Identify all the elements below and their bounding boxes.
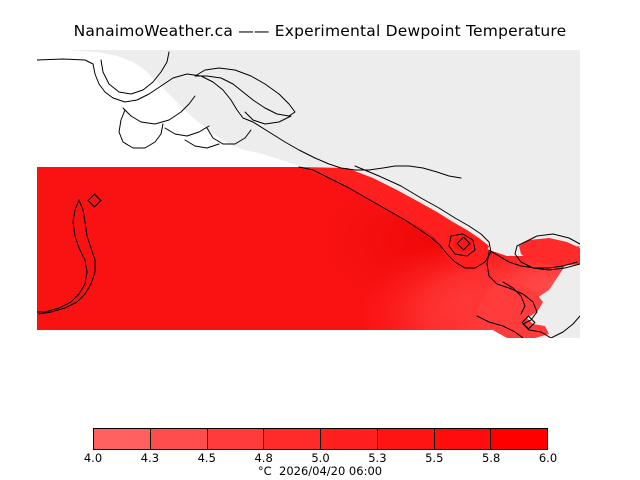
colorbar-segment-4 bbox=[263, 429, 320, 449]
colorbar-tick-8: 6.0 bbox=[539, 451, 557, 465]
map-panel[interactable] bbox=[37, 50, 580, 338]
colorbar-tick-2: 4.5 bbox=[198, 451, 216, 465]
colorbar-strip[interactable] bbox=[93, 428, 548, 450]
colorbar-segment-8 bbox=[490, 429, 547, 449]
colorbar-tick-6: 5.5 bbox=[425, 451, 443, 465]
colorbar-tick-7: 5.8 bbox=[482, 451, 500, 465]
colorbar-segment-7 bbox=[434, 429, 491, 449]
map-graphic bbox=[37, 50, 580, 338]
colorbar-segment-2 bbox=[150, 429, 207, 449]
colorbar-tick-1: 4.3 bbox=[141, 451, 159, 465]
colorbar-tick-3: 4.8 bbox=[254, 451, 272, 465]
colorbar-tick-4: 5.0 bbox=[311, 451, 329, 465]
colorbar-segment-5 bbox=[320, 429, 377, 449]
colorbar-segment-3 bbox=[207, 429, 264, 449]
colorbar-tick-5: 5.3 bbox=[368, 451, 386, 465]
page-title: NanaimoWeather.ca —— Experimental Dewpoi… bbox=[0, 22, 640, 40]
colorbar-caption: °C 2026/04/20 06:00 bbox=[0, 464, 640, 478]
colorbar-segment-1 bbox=[94, 429, 150, 449]
colorbar-tick-0: 4.0 bbox=[84, 451, 102, 465]
colorbar[interactable] bbox=[93, 428, 548, 450]
colorbar-segment-6 bbox=[377, 429, 434, 449]
weather-map-page: NanaimoWeather.ca —— Experimental Dewpoi… bbox=[0, 0, 640, 480]
colorbar-tick-labels: 4.0 4.3 4.5 4.8 5.0 5.3 5.5 5.8 6.0 bbox=[93, 451, 548, 465]
